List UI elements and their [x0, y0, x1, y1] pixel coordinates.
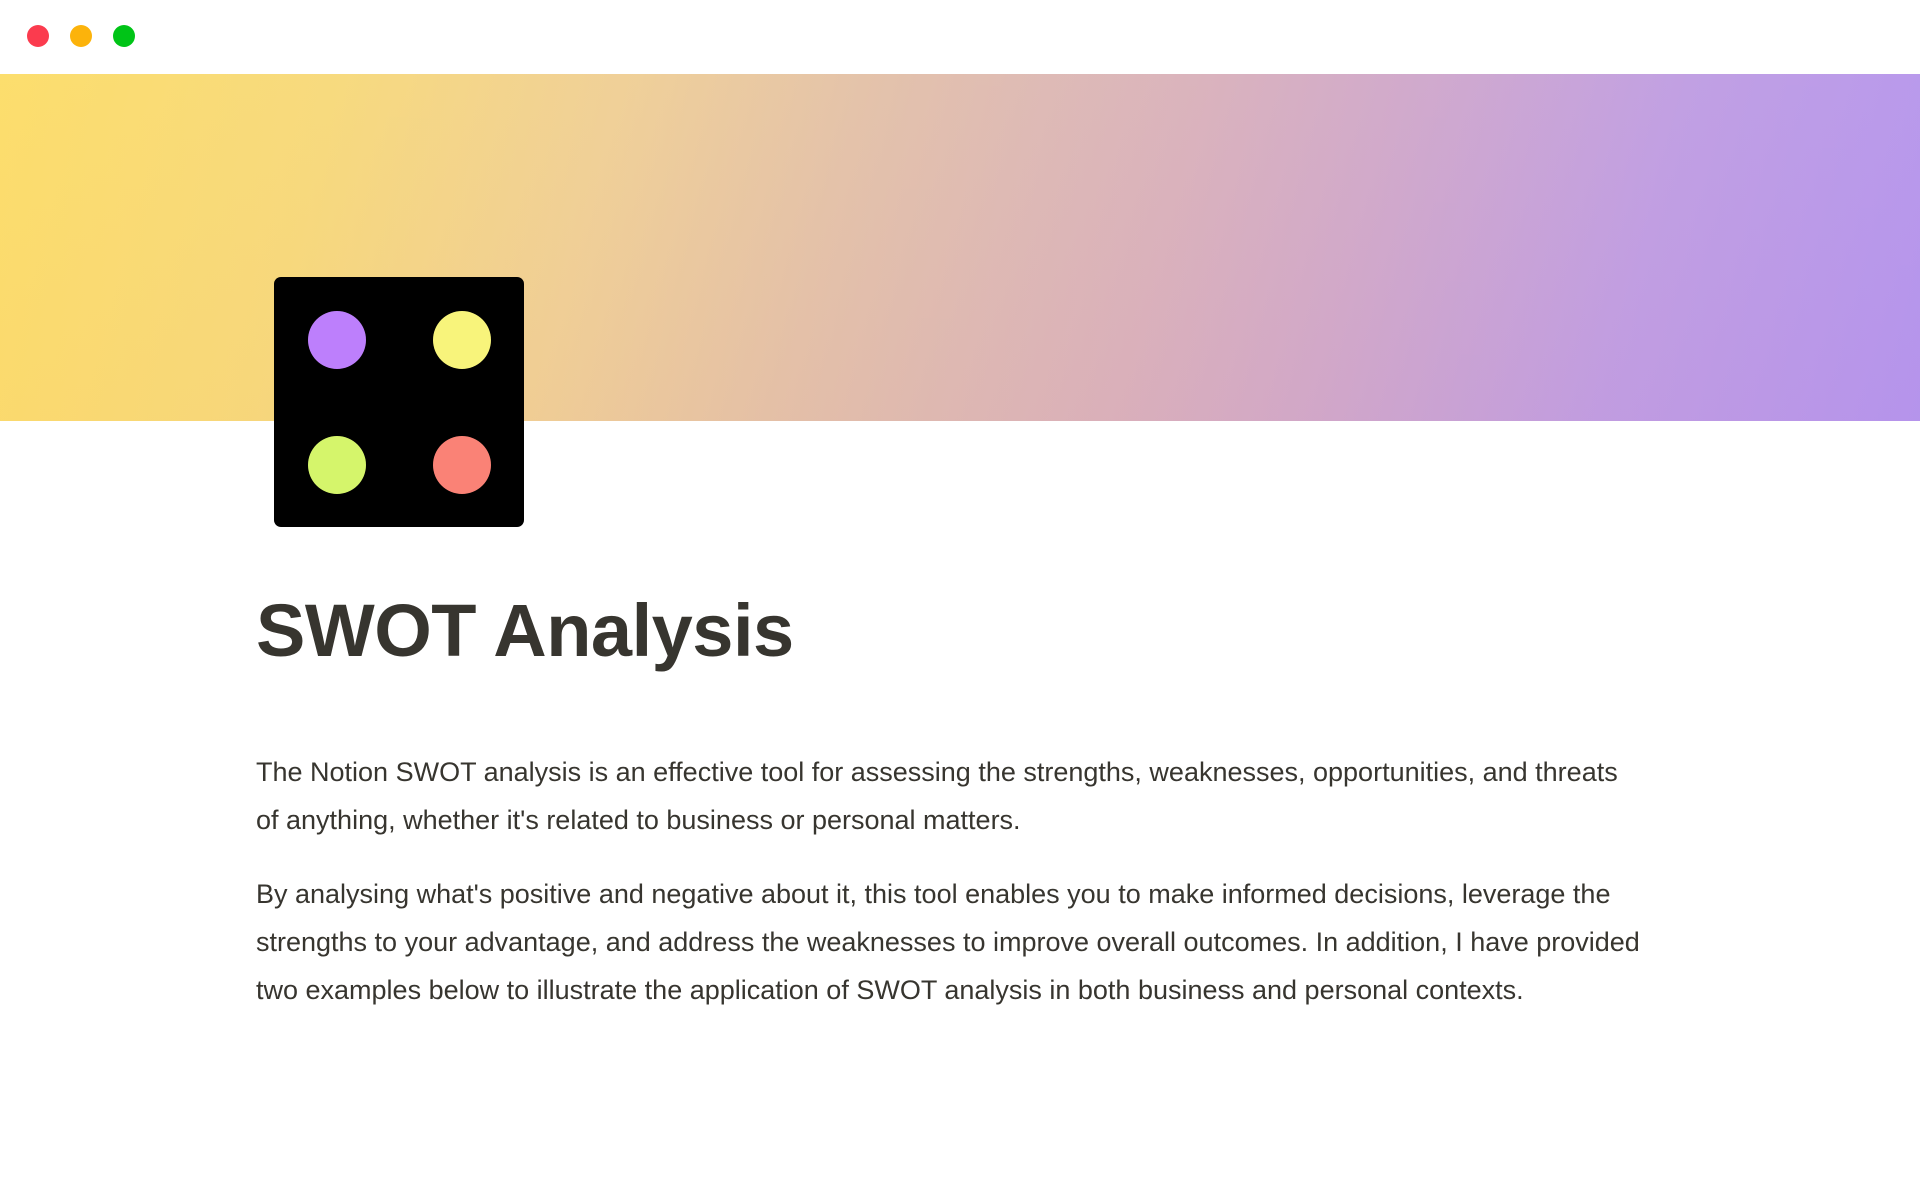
minimize-window-button[interactable] — [70, 25, 92, 47]
page-paragraphs: The Notion SWOT analysis is an effective… — [256, 748, 1676, 1014]
salmon-dot-icon — [433, 436, 491, 494]
paragraph-intro[interactable]: The Notion SWOT analysis is an effective… — [256, 748, 1646, 844]
close-window-button[interactable] — [27, 25, 49, 47]
purple-dot-icon — [308, 311, 366, 369]
window-titlebar — [0, 0, 1920, 74]
lime-dot-icon — [308, 436, 366, 494]
icon-cell-bottom-right — [399, 402, 524, 527]
page-icon[interactable] — [274, 277, 524, 527]
yellow-dot-icon — [433, 311, 491, 369]
icon-cell-top-right — [399, 277, 524, 402]
icon-cell-top-left — [274, 277, 399, 402]
icon-cell-bottom-left — [274, 402, 399, 527]
page-title[interactable]: SWOT Analysis — [256, 590, 1676, 673]
paragraph-detail[interactable]: By analysing what's positive and negativ… — [256, 870, 1646, 1014]
maximize-window-button[interactable] — [113, 25, 135, 47]
app-window: SWOT Analysis The Notion SWOT analysis i… — [0, 0, 1920, 1200]
window-controls — [27, 25, 135, 47]
document-body: SWOT Analysis The Notion SWOT analysis i… — [256, 590, 1676, 1014]
